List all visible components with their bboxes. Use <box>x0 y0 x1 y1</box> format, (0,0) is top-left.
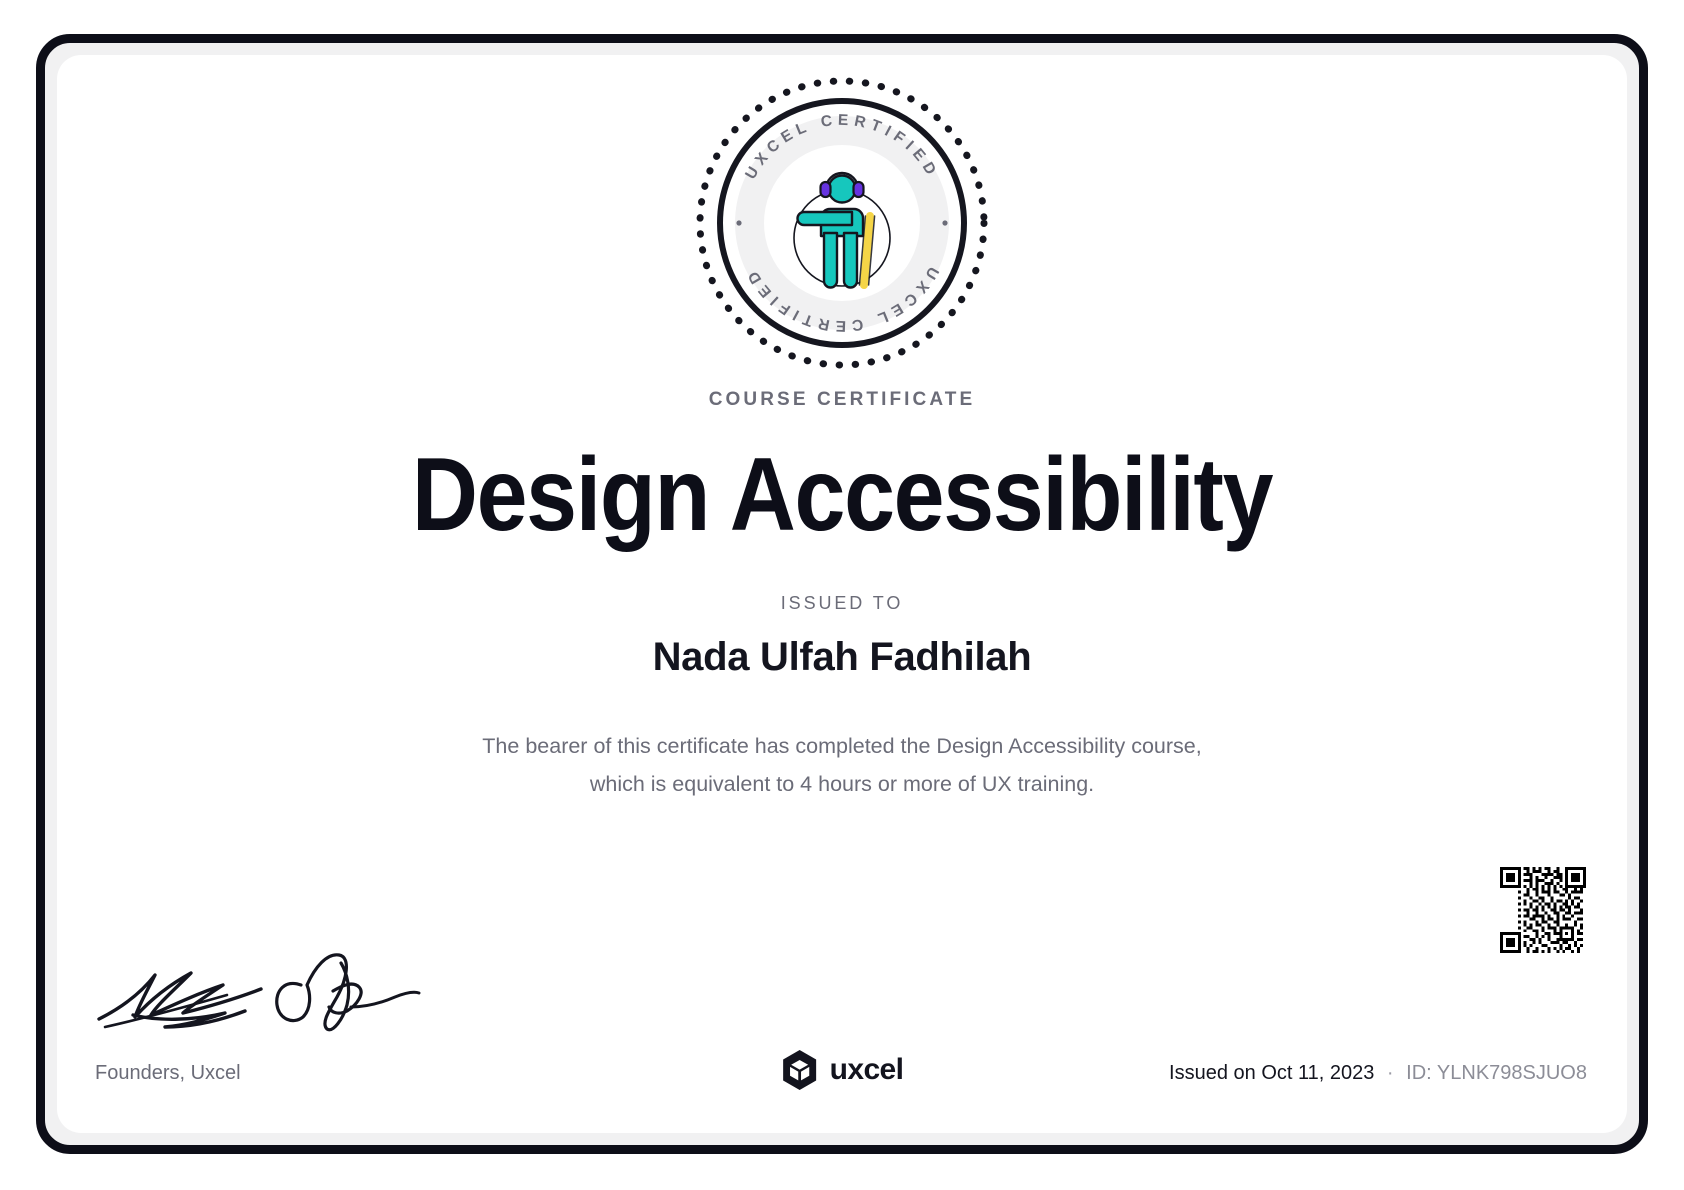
uxcel-wordmark: uxcel <box>830 1053 904 1087</box>
issue-metadata: Issued on Oct 11, 2023 · ID: YLNK798SJUO… <box>1169 1062 1587 1085</box>
issued-on-date: Issued on Oct 11, 2023 <box>1169 1062 1374 1084</box>
uxcel-certified-badge: UXCEL CERTIFIED UXCEL CERTIFIED <box>692 73 992 373</box>
page-title: Design Accessibility <box>151 440 1533 550</box>
issued-to-label: ISSUED TO <box>57 593 1627 614</box>
signature-one <box>99 973 261 1027</box>
uxcel-logo: uxcel <box>781 1049 904 1091</box>
recipient-name: Nada Ulfah Fadhilah <box>57 635 1627 680</box>
certificate-card: UXCEL CERTIFIED UXCEL CERTIFIED <box>57 55 1627 1133</box>
founder-signatures <box>95 949 425 1041</box>
metadata-separator: · <box>1387 1062 1394 1084</box>
uxcel-cube-icon <box>781 1049 819 1091</box>
course-certificate-eyebrow: COURSE CERTIFICATE <box>57 389 1627 411</box>
certificate-description: The bearer of this certificate has compl… <box>422 727 1262 803</box>
certificate-page: UXCEL CERTIFIED UXCEL CERTIFIED <box>0 0 1684 1190</box>
qr-code[interactable] <box>1500 867 1586 953</box>
signature-caption: Founders, Uxcel <box>95 1062 241 1085</box>
signature-two <box>277 955 419 1030</box>
description-line-1: The bearer of this certificate has compl… <box>422 727 1262 765</box>
description-line-2: which is equivalent to 4 hours or more o… <box>422 765 1262 803</box>
certificate-frame: UXCEL CERTIFIED UXCEL CERTIFIED <box>36 34 1648 1154</box>
certificate-id: ID: YLNK798SJUO8 <box>1406 1062 1587 1084</box>
